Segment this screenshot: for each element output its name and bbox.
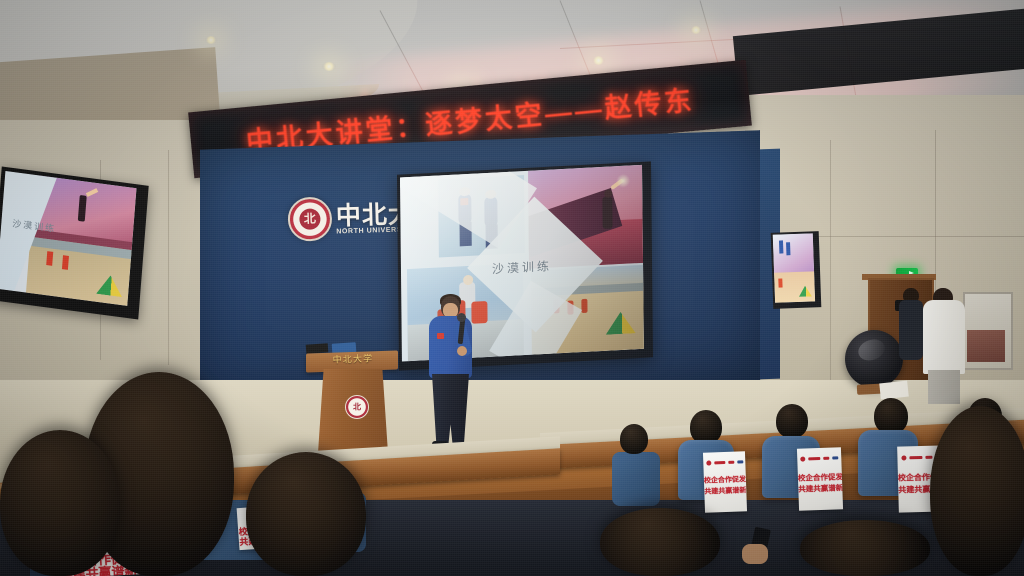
cameraman-white-shirt — [923, 300, 965, 374]
foreground-head — [800, 520, 930, 576]
logo-wordmark — [737, 460, 743, 463]
cameraman-legs — [928, 370, 960, 404]
ceiling-downlight — [205, 36, 217, 44]
podium-label: 中北大学 — [322, 351, 384, 366]
logo-wordmark — [909, 456, 922, 459]
seat-banner-logos — [797, 453, 841, 464]
logo-wordmark — [823, 457, 829, 460]
podium-seal-icon: 北 — [345, 395, 369, 419]
bag-highlight — [855, 336, 887, 364]
wall-seam — [168, 150, 169, 365]
round-dark-bag — [845, 330, 903, 388]
audience-hand — [742, 544, 768, 564]
seat-banner: 校企合作促发展 共建共赢谱新篇 — [703, 451, 747, 512]
slide-center-label: 沙漠训练 — [492, 257, 552, 277]
standing-person-dark-shirt — [899, 300, 923, 360]
logo-wordmark — [832, 456, 838, 459]
seat-banner: 校企合作促发展 共建共赢谱新篇 — [797, 447, 843, 510]
audience-head — [620, 424, 648, 454]
speaker-badge — [437, 333, 444, 339]
podium-seal-char: 北 — [353, 402, 361, 413]
seat-banner-logos — [703, 457, 745, 468]
audience-head — [776, 404, 808, 438]
side-monitor-left-screen: 沙漠训练 — [0, 171, 136, 306]
audience-seat — [612, 452, 660, 506]
side-monitor-right — [771, 231, 822, 309]
seat-banner-line1: 校企合作促发展 — [704, 476, 746, 484]
wall-seam — [830, 140, 831, 390]
foreground-head — [600, 508, 720, 576]
seat-banner-line2: 共建共赢谱新篇 — [704, 487, 746, 495]
audience-head — [874, 398, 908, 434]
logo-icon — [901, 455, 906, 460]
logo-wordmark — [925, 455, 932, 458]
microphone-head — [457, 313, 466, 322]
logo-icon — [706, 460, 711, 465]
logo-wordmark — [728, 460, 734, 463]
speaker-hand — [457, 346, 467, 356]
foreground-head — [930, 406, 1024, 576]
university-seal-char: 北 — [299, 208, 321, 230]
side-monitor-left: 沙漠训练 — [0, 167, 149, 320]
fire-hose-cabinet-window — [967, 330, 1005, 362]
seat-banner-line1: 校企合作促发展 — [798, 473, 842, 482]
seat-banner-line2: 共建共赢谱新篇 — [798, 484, 842, 493]
lecture-hall-photo: 中北大讲堂 逐梦太空 中北大讲堂：逐梦太空——赵传东 北 中北大学 NORTH … — [0, 0, 1024, 576]
foreground-head — [246, 452, 366, 576]
paper-on-stand — [879, 381, 909, 400]
logo-wordmark — [808, 457, 820, 460]
university-seal-icon: 北 — [287, 197, 332, 242]
logo-icon — [800, 457, 805, 462]
foreground-head — [0, 430, 120, 576]
audience-head — [690, 410, 722, 444]
side-monitor-right-screen — [773, 233, 815, 302]
logo-wordmark — [714, 461, 725, 464]
